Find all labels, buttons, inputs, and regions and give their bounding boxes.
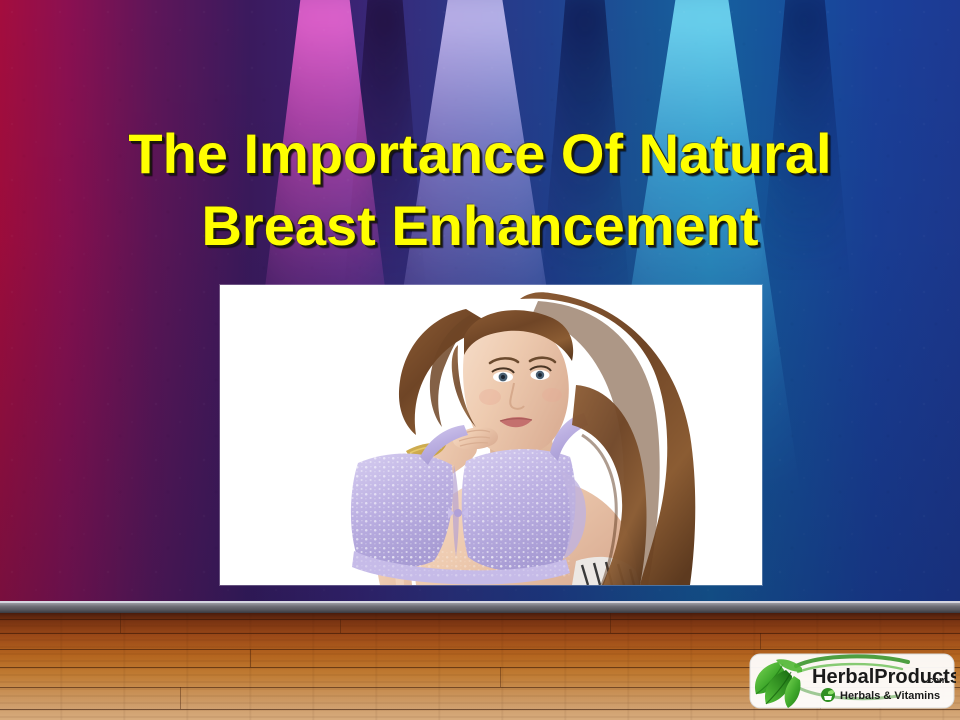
title-line-2: Breast Enhancement: [0, 190, 960, 262]
logo-tagline-text: Herbals & Vitamins: [840, 690, 940, 702]
model-photo: [220, 285, 762, 585]
slide-title: The Importance Of Natural Breast Enhance…: [0, 118, 960, 262]
logo-tld-text: .com: [926, 675, 947, 685]
title-line-1: The Importance Of Natural: [0, 118, 960, 190]
presentation-slide: The Importance Of Natural Breast Enhance…: [0, 0, 960, 720]
herbalproducts-logo[interactable]: HerbalProducts .com Herbals & Vitamins: [748, 650, 956, 712]
stage-ledge: [0, 601, 960, 613]
